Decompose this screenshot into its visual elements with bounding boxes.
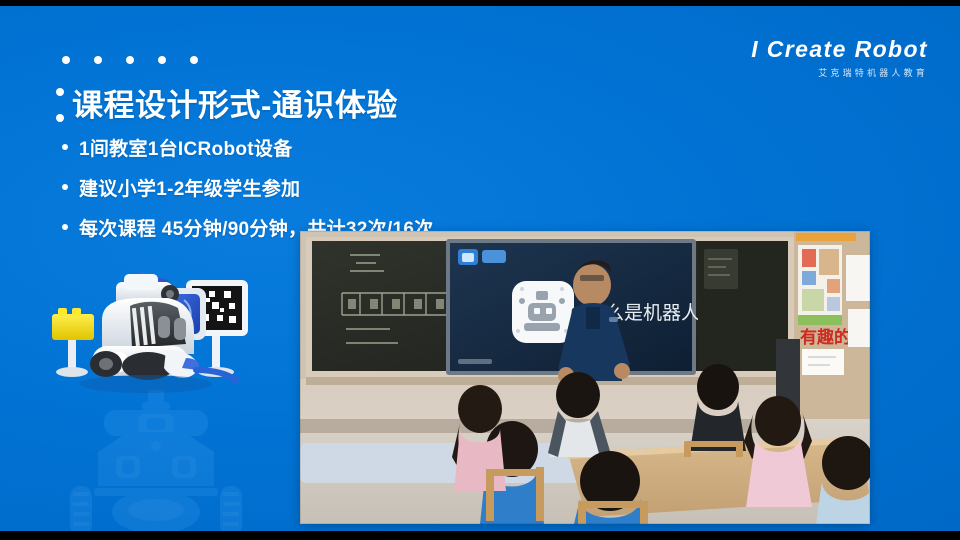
decorative-dot-column [56,88,64,122]
brand-subtitle: 艾克瑞特机器人教育 [751,66,928,79]
list-item: 建议小学1-2年级学生参加 [62,174,434,201]
robot-app-icon [512,281,574,343]
brand-name: I Create Robot [751,38,928,61]
classroom-photo-image: 什么是机器人？ [300,231,870,524]
slide-frame: 课程设计形式-通识体验 1间教室1台ICRobot设备 建议小学1-2年级学生参… [0,0,960,540]
brand-logo: I Create Robot 艾克瑞特机器人教育 [751,38,928,79]
letterbox-bottom-bar [0,531,960,540]
robot-shadow [80,375,212,393]
decor-dot [56,114,64,122]
list-item-label: 建议小学1-2年级学生参加 [79,174,300,201]
blackboard-right-panel [698,241,788,371]
page-title: 课程设计形式-通识体验 [72,80,398,125]
decor-dot [158,56,166,64]
wall-bulletin-board: 有趣的实验 [794,231,870,431]
list-item: 1间教室1台ICRobot设备 [62,134,434,161]
classroom-photo: 什么是机器人？ [300,231,870,524]
decor-dot [62,56,70,64]
screen-app-chip [482,250,506,263]
list-item-label: 1间教室1台ICRobot设备 [79,134,293,161]
decor-dot [126,56,134,64]
slide-canvas: 课程设计形式-通识体验 1间教室1台ICRobot设备 建议小学1-2年级学生参… [0,6,960,531]
robot-treads [90,346,199,380]
robot-watermark-icon [68,390,244,531]
robot-body [102,298,194,354]
bullet-dot-icon [62,224,68,230]
bullet-dot-icon [62,144,68,150]
decorative-dot-row [62,56,198,64]
decor-dot [56,88,64,96]
decor-dot [94,56,102,64]
yellow-block-prop [52,308,94,377]
robot-product-render [46,258,282,408]
decor-dot [190,56,198,64]
bullet-dot-icon [62,184,68,190]
